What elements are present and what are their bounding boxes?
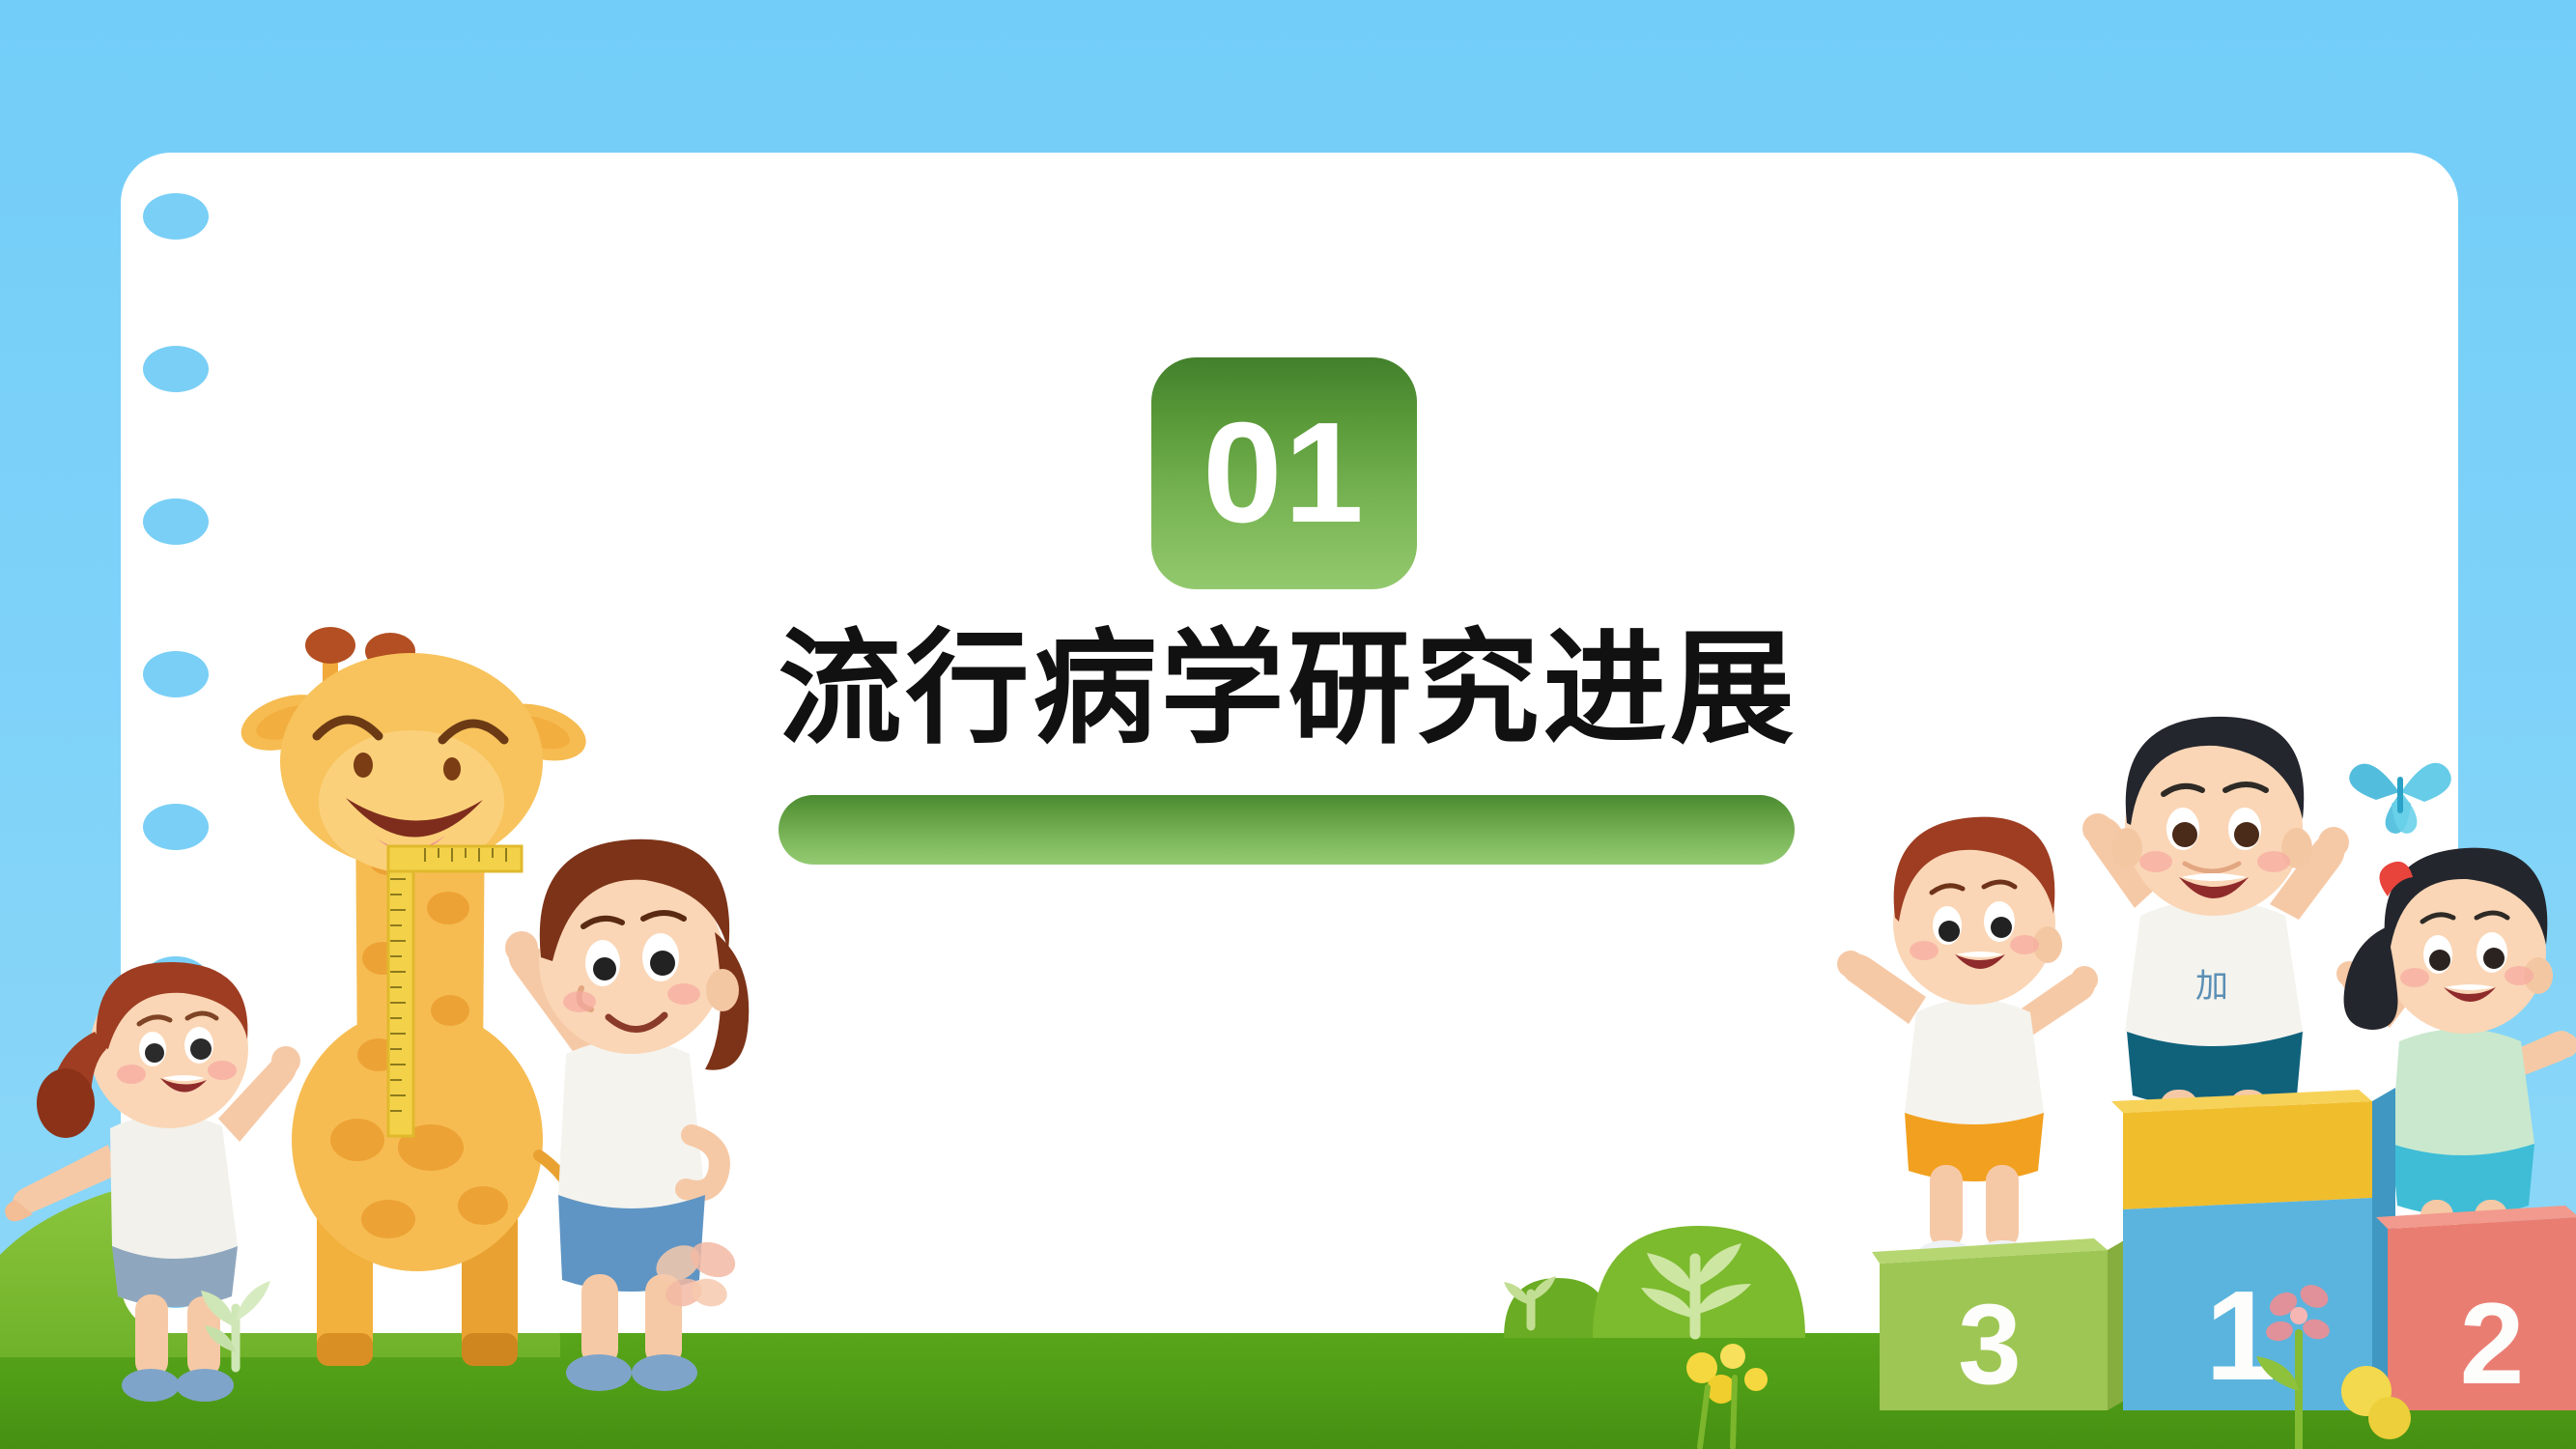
svg-text:2: 2 <box>2460 1279 2525 1408</box>
kid-third-place <box>1837 817 2098 1271</box>
pink-flower-cluster <box>2231 1275 2424 1449</box>
section-number-text: 01 <box>1203 402 1366 545</box>
butterfly-left <box>637 1217 753 1333</box>
yellow-flower-cluster <box>1661 1323 1835 1449</box>
small-plant-left <box>180 1265 296 1372</box>
slide-root: 01 流行病学研究进展 <box>0 0 2576 1449</box>
punch-hole <box>143 346 209 392</box>
podium-illustration: 加 <box>1816 734 2576 1410</box>
blue-butterfly <box>2347 744 2453 840</box>
podium-block-3: 3 <box>1872 1236 2131 1410</box>
punch-hole <box>143 498 209 545</box>
svg-text:加: 加 <box>2195 968 2228 1005</box>
title-underline-bar <box>778 795 1795 865</box>
section-number-badge[interactable]: 01 <box>1151 357 1417 589</box>
punch-hole <box>143 804 209 850</box>
svg-text:3: 3 <box>1958 1281 2022 1408</box>
punch-hole <box>143 193 209 240</box>
